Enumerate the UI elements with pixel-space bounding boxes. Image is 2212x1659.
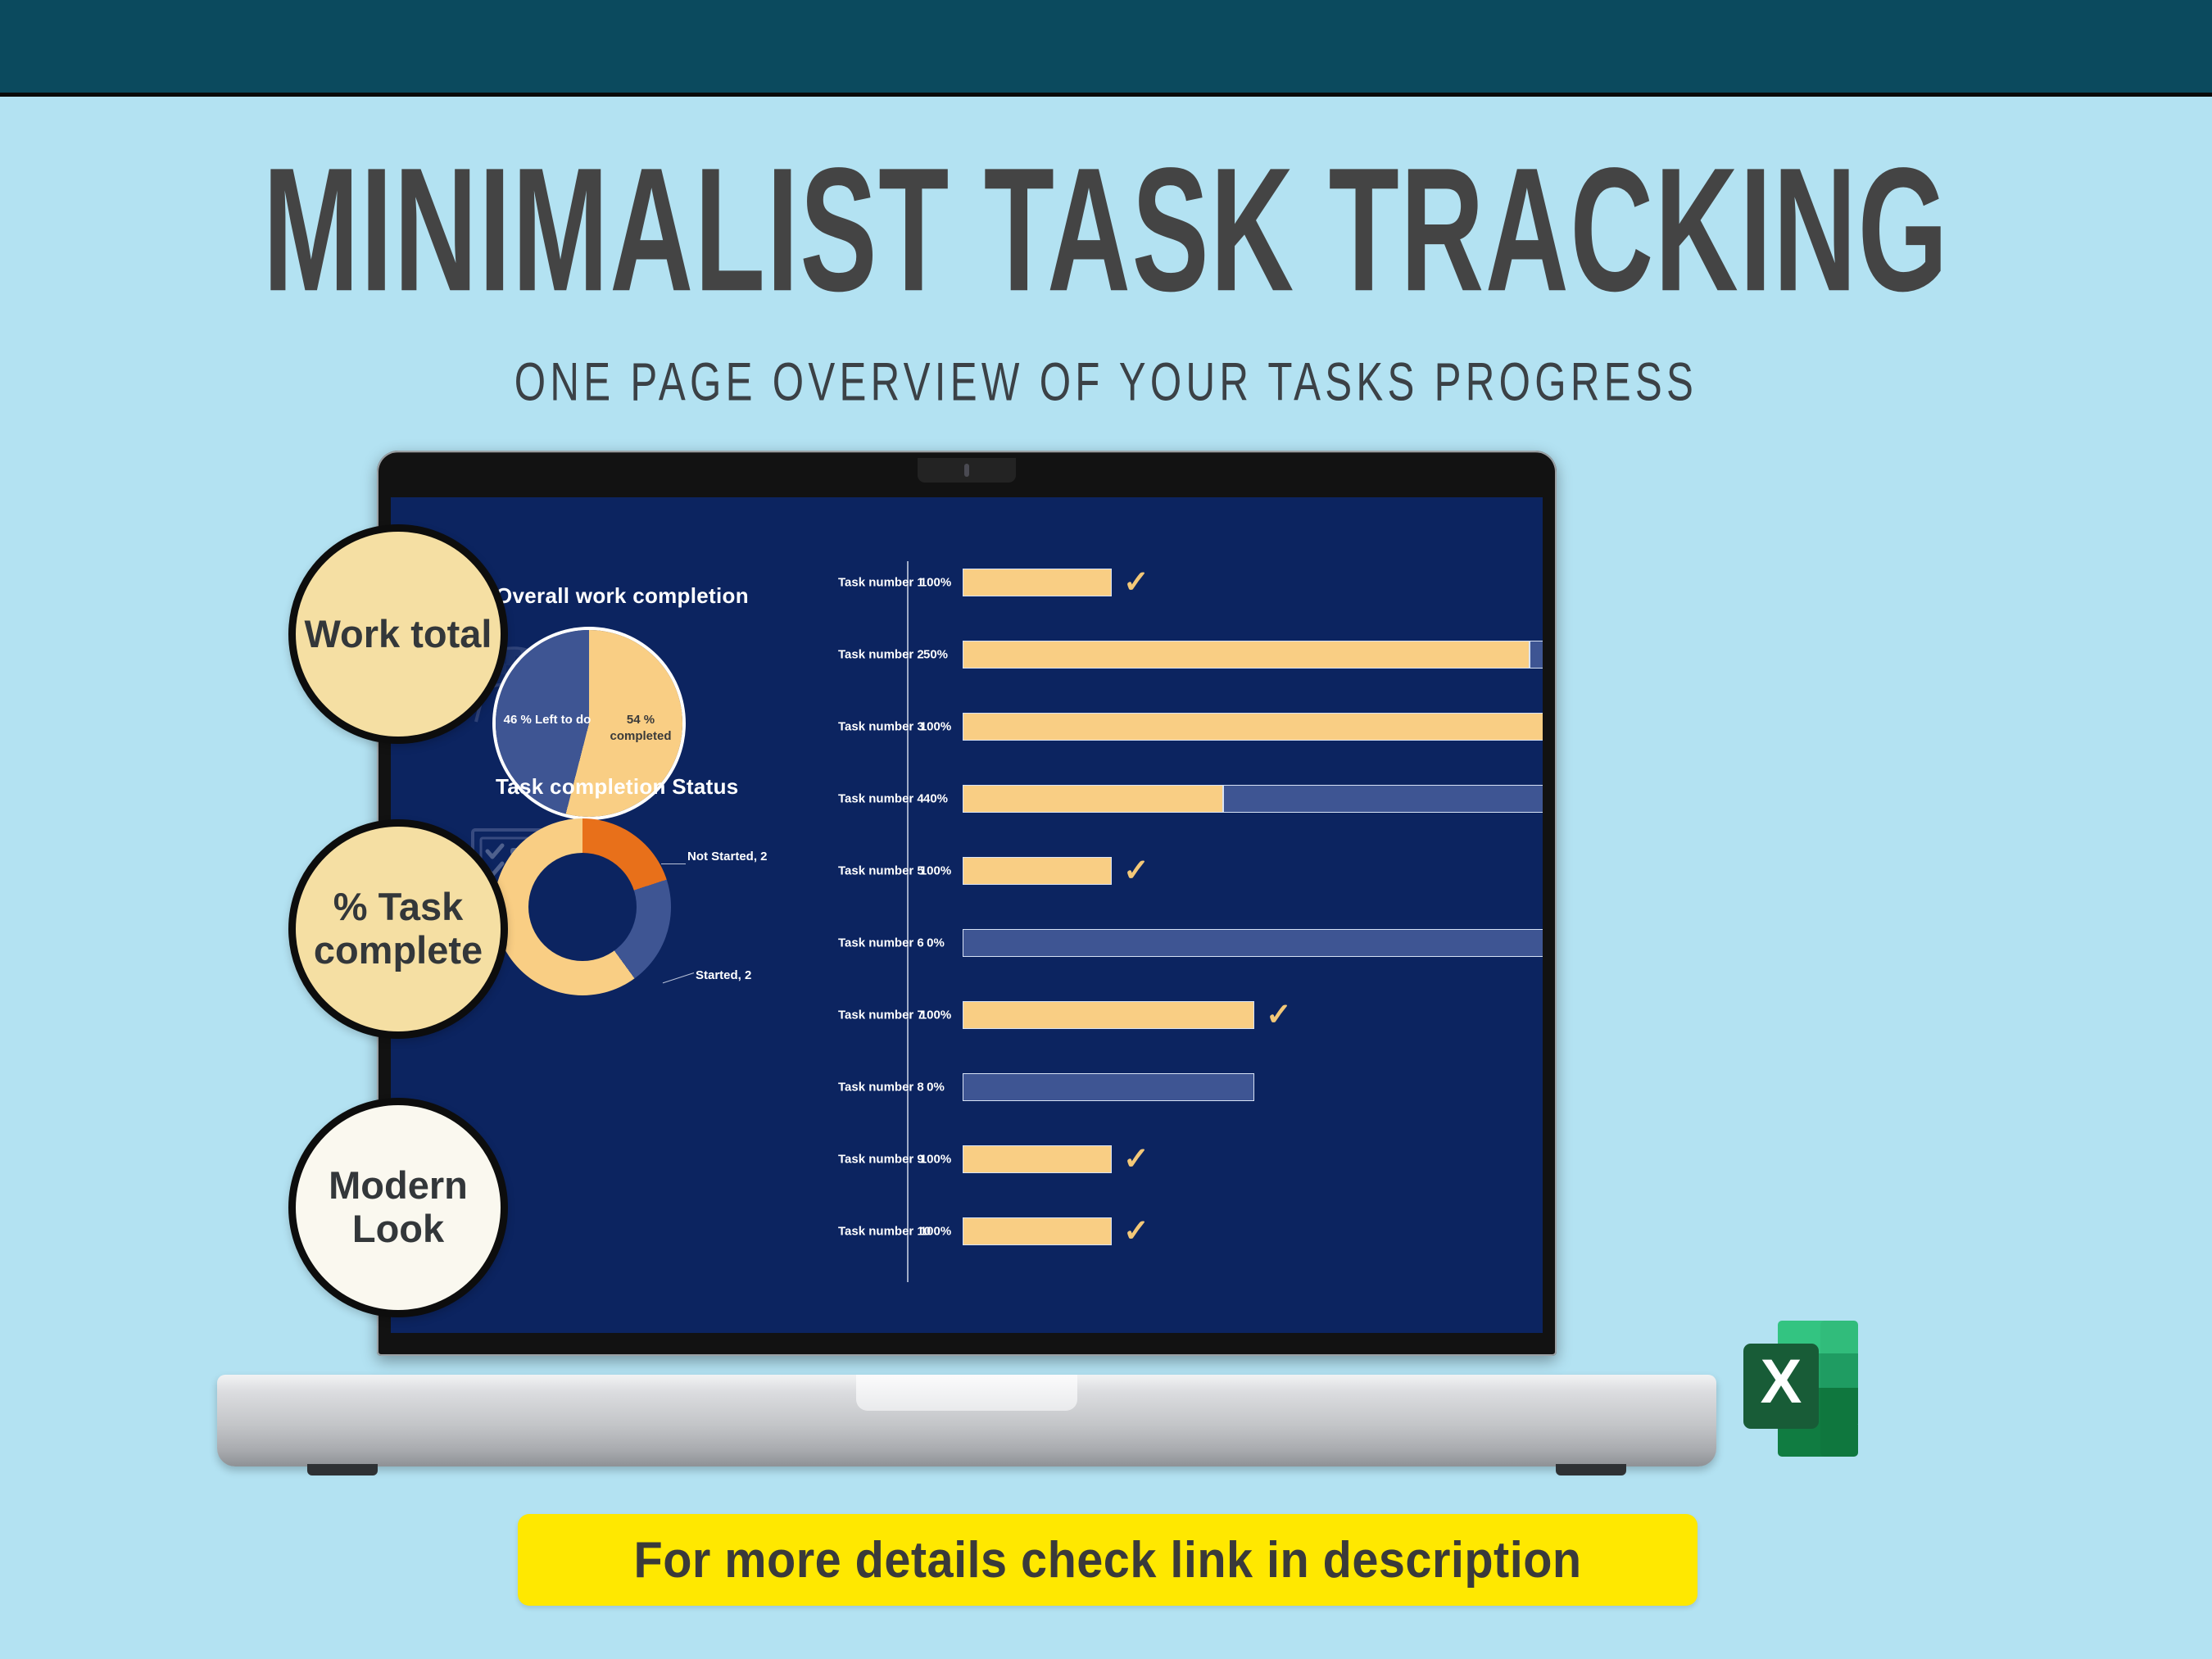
task-progress-bar xyxy=(963,713,1543,741)
pie-chart-title: Overall work completion xyxy=(496,583,749,609)
task-progress-bar xyxy=(963,1217,1112,1245)
task-progress-bar xyxy=(963,1001,1254,1029)
task-bar-remaining-segment xyxy=(1530,641,1543,669)
task-row: Task number 1100%✓ xyxy=(838,566,1543,599)
task-bar-remaining-segment xyxy=(963,1073,1254,1101)
task-complete-check-icon: ✓ xyxy=(1123,1216,1149,1247)
task-percent-label: 0% xyxy=(917,1081,954,1095)
task-complete-check-icon: ✓ xyxy=(1123,855,1149,886)
task-name-label: Task number 4 xyxy=(838,792,897,806)
task-row: Task number 10100%✓ xyxy=(838,1215,1543,1248)
task-bar-remaining-segment xyxy=(1223,785,1543,813)
task-progress-list: Task number 1100%✓Task number 250%Task n… xyxy=(838,561,1543,1282)
donut-label-started: Started, 2 xyxy=(696,968,751,982)
camera-icon xyxy=(964,464,969,477)
cta-banner-text: For more details check link in descripti… xyxy=(633,1531,1581,1589)
badge-work-total: Work total xyxy=(288,524,508,744)
cta-banner[interactable]: For more details check link in descripti… xyxy=(518,1514,1698,1606)
task-row: Task number 60% xyxy=(838,927,1543,959)
task-progress-bar xyxy=(963,857,1112,885)
task-name-label: Task number 6 xyxy=(838,936,897,950)
task-name-label: Task number 10 xyxy=(838,1225,897,1239)
task-progress-bar xyxy=(963,929,1543,957)
badge-modern-look: Modern Look xyxy=(288,1098,508,1317)
task-percent-label: 100% xyxy=(917,864,954,878)
excel-letter-x: X xyxy=(1761,1347,1802,1416)
task-complete-check-icon: ✓ xyxy=(1123,567,1149,598)
page-title: MINIMALIST TASK TRACKING xyxy=(199,101,2013,318)
task-bar-completed-segment xyxy=(963,1001,1254,1029)
task-progress-bar xyxy=(963,641,1543,669)
task-bar-completed-segment xyxy=(963,785,1223,813)
task-progress-bar xyxy=(963,1145,1112,1173)
task-percent-label: 100% xyxy=(917,1153,954,1167)
top-accent-bar xyxy=(0,0,2212,97)
task-progress-bar xyxy=(963,1073,1254,1101)
task-bar-completed-segment xyxy=(963,641,1530,669)
task-completion-status-donut xyxy=(494,818,671,995)
task-row: Task number 5100%✓ xyxy=(838,854,1543,887)
task-complete-check-icon: ✓ xyxy=(1123,1144,1149,1175)
header: MINIMALIST TASK TRACKING ONE PAGE OVERVI… xyxy=(0,101,2212,403)
donut-leader-line-started xyxy=(663,972,694,983)
task-name-label: Task number 2 xyxy=(838,648,897,662)
pie-slice-label-right: 54 % completed xyxy=(601,712,681,744)
laptop-foot-left xyxy=(307,1464,378,1475)
laptop-screen: Overall work completion xyxy=(391,497,1543,1333)
task-name-label: Task number 5 xyxy=(838,864,897,878)
laptop-lid: Overall work completion xyxy=(377,451,1557,1356)
task-row: Task number 3100% xyxy=(838,710,1543,743)
task-row: Task number 250% xyxy=(838,638,1543,671)
task-name-label: Task number 7 xyxy=(838,1009,897,1022)
badge-task-complete-label: % Task complete xyxy=(296,886,501,972)
task-percent-label: 100% xyxy=(917,1225,954,1239)
laptop-base-notch xyxy=(856,1375,1077,1411)
task-bar-completed-segment xyxy=(963,1145,1112,1173)
task-bar-completed-segment xyxy=(963,569,1112,596)
task-name-label: Task number 3 xyxy=(838,720,897,734)
donut-chart-title: Task completion Status xyxy=(496,774,739,800)
task-percent-label: 40% xyxy=(917,792,954,806)
task-row: Task number 80% xyxy=(838,1071,1543,1104)
task-bar-completed-segment xyxy=(963,857,1112,885)
task-row: Task number 7100%✓ xyxy=(838,999,1543,1031)
task-bar-completed-segment xyxy=(963,713,1543,741)
donut-label-not-started: Not Started, 2 xyxy=(687,850,768,863)
task-complete-check-icon: ✓ xyxy=(1266,999,1292,1031)
task-row: Task number 9100%✓ xyxy=(838,1143,1543,1176)
laptop-base xyxy=(217,1375,1716,1466)
task-name-label: Task number 9 xyxy=(838,1153,897,1167)
task-percent-label: 100% xyxy=(917,576,954,590)
donut-hole xyxy=(528,853,637,961)
task-bar-completed-segment xyxy=(963,1217,1112,1245)
task-progress-bar xyxy=(963,569,1112,596)
task-name-label: Task number 1 xyxy=(838,576,897,590)
laptop-foot-right xyxy=(1556,1464,1626,1475)
badge-modern-look-label: Modern Look xyxy=(296,1164,501,1250)
badge-task-complete: % Task complete xyxy=(288,819,508,1039)
task-dashboard: Overall work completion xyxy=(391,497,1543,1333)
page-subtitle: ONE PAGE OVERVIEW OF YOUR TASKS PROGRESS xyxy=(133,350,2079,413)
donut-leader-line-notstarted xyxy=(661,863,686,864)
task-name-label: Task number 8 xyxy=(838,1081,897,1095)
task-percent-label: 50% xyxy=(917,648,954,662)
task-row: Task number 440% xyxy=(838,782,1543,815)
task-percent-label: 0% xyxy=(917,936,954,950)
task-percent-label: 100% xyxy=(917,720,954,734)
task-bar-remaining-segment xyxy=(963,929,1543,957)
badge-work-total-label: Work total xyxy=(305,613,492,656)
pie-slice-label-left: 46 % Left to do xyxy=(502,712,592,728)
task-progress-bar xyxy=(963,785,1543,813)
task-percent-label: 100% xyxy=(917,1009,954,1022)
microsoft-excel-logo: X xyxy=(1740,1317,1861,1463)
